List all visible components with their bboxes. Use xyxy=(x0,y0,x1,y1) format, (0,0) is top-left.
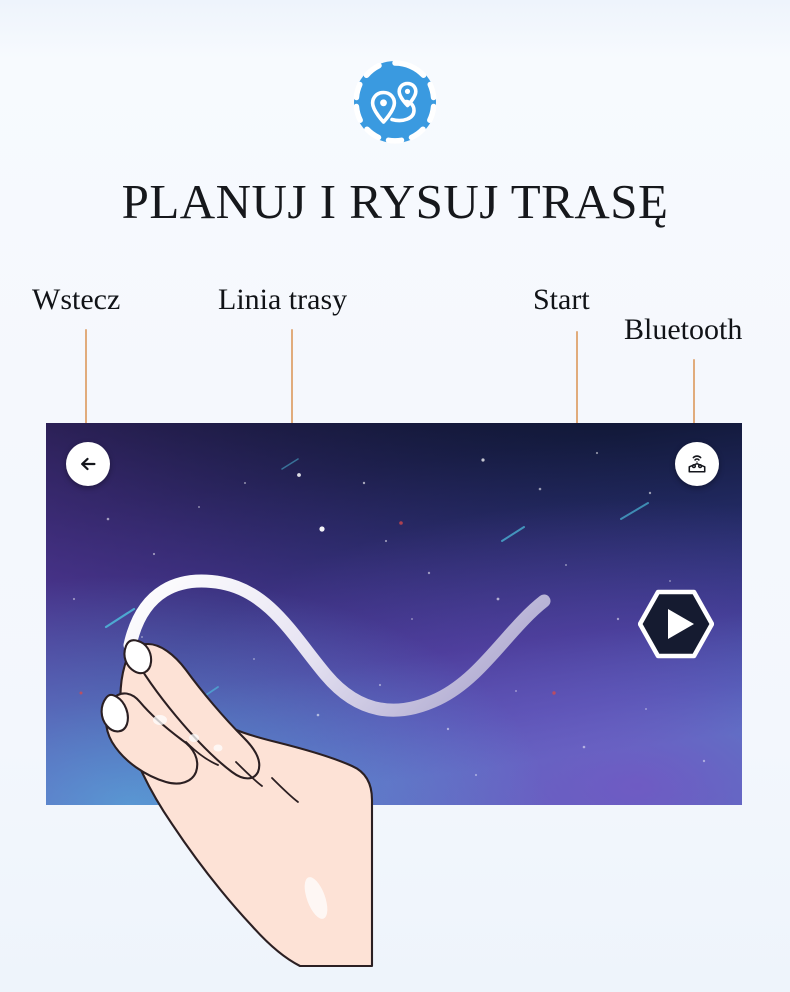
bluetooth-button[interactable] xyxy=(675,442,719,486)
page-root: PLANUJ I RYSUJ TRASĘ Wstecz Linia trasy … xyxy=(0,0,790,992)
callout-label-linia-trasy: Linia trasy xyxy=(218,283,347,317)
route-pins-icon xyxy=(345,52,445,152)
start-button[interactable] xyxy=(638,589,714,659)
back-button[interactable] xyxy=(66,442,110,486)
arrow-left-icon xyxy=(77,453,99,475)
play-triangle-icon xyxy=(638,589,714,659)
device-screen xyxy=(46,423,742,805)
callout-label-bluetooth: Bluetooth xyxy=(624,313,742,347)
wireless-device-icon xyxy=(684,451,710,477)
callout-label-start: Start xyxy=(533,283,590,317)
page-title: PLANUJ I RYSUJ TRASĘ xyxy=(0,172,790,232)
callout-label-wstecz: Wstecz xyxy=(32,283,120,317)
